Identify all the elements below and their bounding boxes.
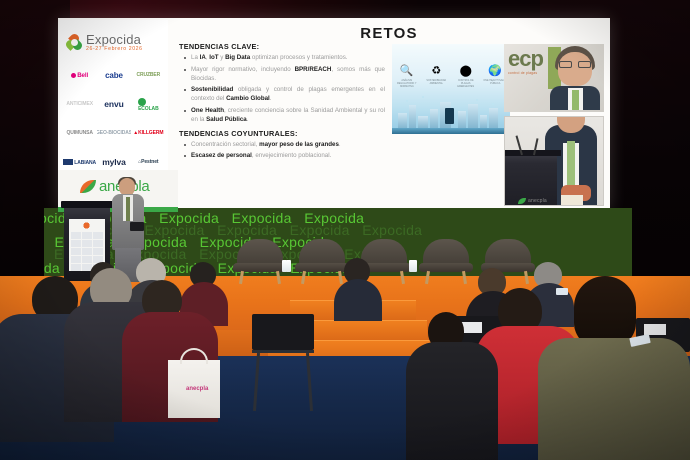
anecpla-leaf-icon [80,180,96,193]
sponsor-logo: ANTICIMEX [63,91,96,119]
infographic-caption: SOSTENIBILIDAD AMBIENTAL [424,79,448,85]
expocida-swirl-icon [66,34,83,51]
smartphone-icon [445,108,454,124]
sponsor-logo-label: ANTICIMEX [66,102,93,107]
conference-photo-scene: Expocida 26-27 Febrero 2026 Bell cabe CR… [0,0,690,460]
sponsor-logo-label: CRUZBER [136,73,160,78]
sponsor-logo: QUIMUNSA [63,120,96,148]
anecpla-footer-logo: anecpla [518,198,547,204]
bullet-item: Escasez de personal, envejecimiento pobl… [184,152,385,161]
ecp-wordmark: ecp [508,50,543,69]
infographic-caption: ANÁLISIS REGULATORIO Y NORMATIVA [395,79,419,88]
expocida-wordmark: Expocida [86,33,143,46]
sponsor-logo: ECOLAB [132,91,165,119]
sponsor-logo-label: Bell [77,72,88,79]
expocida-logo: Expocida 26-27 Febrero 2026 [60,20,168,62]
bullet-list-clave: La IA, IoT y Big Data optimizan procesos… [184,54,385,125]
sponsor-logo: CRUZBER [132,62,165,90]
bullet-item: One Health, creciente conciencia sobre l… [184,107,385,125]
live-video-inset [504,116,604,206]
sponsor-logo: cabe [97,62,130,90]
sponsor-logo: envu [97,91,130,119]
slide-title: RETOS [170,25,608,42]
sponsor-logo-label: GEO-BIOCIDAS [97,131,130,136]
sponsor-logo: ▲KILLGERM [132,120,165,148]
water-bottle [286,260,291,272]
sponsor-logo-label: ECOLAB [138,106,159,112]
section-heading-clave: TENDENCIAS CLAVE: [179,42,385,51]
sponsor-logo-label: cabe [105,72,123,80]
sponsor-logo-label: QUIMUNSA [66,131,92,136]
slide-content: RETOS TENDENCIAS CLAVE: La IA, IoT y Big… [170,20,608,208]
bullet-item: Concentración sectorial, mayor peso de l… [184,141,385,150]
section-heading-coyunturales: TENDENCIAS COYUNTURALES: [179,129,385,138]
tote-bag: anecpla [168,360,220,418]
sponsor-logo-label: mylva [102,158,126,167]
infographic-icon-row: 🔍 ANÁLISIS REGULATORIO Y NORMATIVA ♻ SOS… [392,66,510,88]
recycle-leaf-icon: ♻ [424,66,448,77]
eyeglasses-icon [558,61,592,68]
sponsor-logo-label: KILLGERM [138,130,163,136]
badge-lanyard [556,288,568,295]
infographic-item: ♻ SOSTENIBILIDAD AMBIENTAL [424,66,448,88]
slide-text-column: TENDENCIAS CLAVE: La IA, IoT y Big Data … [179,42,385,164]
poster-logo-icon [80,221,93,230]
stage-chair [418,239,474,283]
sponsor-logo-label: envu [104,100,123,109]
infographic-caption: CONTROL DE PLAGAS EMERGENTES [454,79,478,88]
bullet-item: La IA, IoT y Big Data optimizan procesos… [184,54,385,63]
sponsor-logo-label: Pestnet [141,159,158,165]
bullet-list-coyunturales: Concentración sectorial, mayor peso de l… [184,141,385,162]
infographic-item: ⬤ CONTROL DE PLAGAS EMERGENTES [454,66,478,88]
stage-chair [294,239,350,283]
droplet-icon: ⬤ [454,66,478,77]
anecpla-leaf-icon [518,198,526,204]
stage-chair [232,239,288,283]
ecp-logo: ecp control de plagas [508,50,543,75]
sponsor-logo: GEO-BIOCIDAS [97,120,130,148]
laptop-icon [130,222,144,231]
tote-bag-label: anecpla [186,386,208,392]
smart-city-infographic: 🔍 ANÁLISIS REGULATORIO Y NORMATIVA ♻ SOS… [392,44,510,134]
magnifier-icon: 🔍 [395,66,419,77]
sponsor-logo: Bell [63,62,96,90]
bullet-item: Mayor rigor normativo, incluyendo BPR/RE… [184,66,385,84]
anecpla-footer-label: anecpla [528,198,547,204]
ecp-portrait-figure [552,46,598,108]
ecp-tagline: control de plagas [508,71,543,76]
infographic-city-skyline: 📶 [392,94,510,134]
ecp-speaker-photo: ecp control de plagas [504,44,604,112]
bullet-item: Sostenibilidad obligada y control de pla… [184,86,385,104]
water-bottle [412,260,417,272]
infographic-item: 🔍 ANÁLISIS REGULATORIO Y NORMATIVA [395,66,419,88]
sponsor-logo-label: LABIANA [74,160,96,166]
expocida-dates: 26-27 Febrero 2026 [86,47,143,52]
